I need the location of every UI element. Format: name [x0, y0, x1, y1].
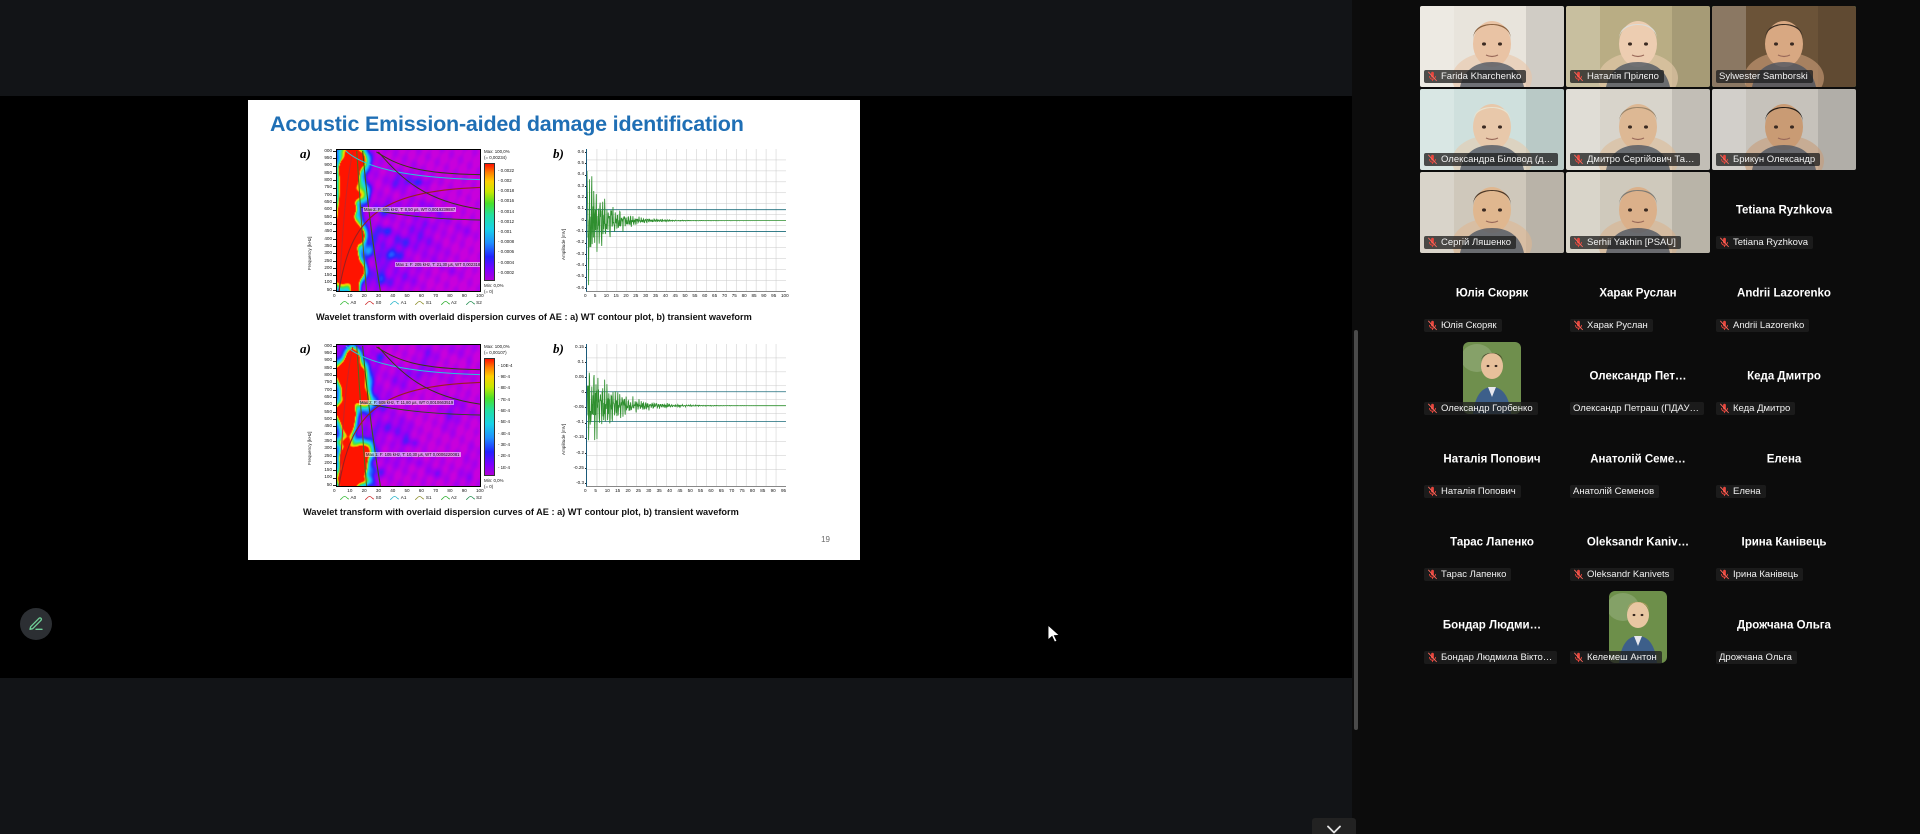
participant-nametag: Сергій Ляшенко: [1424, 236, 1516, 249]
x-tick-label: 0: [584, 294, 587, 299]
x-tick-label: 60: [708, 489, 713, 494]
x-tick-label: 75: [732, 294, 737, 299]
participant-tile[interactable]: Брикун Олександр: [1712, 89, 1856, 170]
mouse-cursor: [1047, 624, 1061, 644]
participants-row: Олександра Біловод (д…Дмитро Сергійович …: [1420, 89, 1870, 170]
participant-display-name: Анатолій Семе…: [1566, 453, 1710, 465]
mic-muted-icon: [1427, 71, 1438, 82]
participant-display-name: Олександр Пет…: [1566, 370, 1710, 382]
participant-display-name: Кеда Дмитро: [1712, 370, 1856, 382]
x-tick-label: 35: [657, 489, 662, 494]
figure-2-mode-legend: A0S0A1S1A2S2: [340, 495, 482, 500]
x-tick-label: 35: [653, 294, 658, 299]
mic-muted-icon: [1719, 320, 1730, 331]
mic-muted-icon: [1719, 569, 1730, 580]
x-tick-label: 20: [623, 294, 628, 299]
participants-row: Бондар Людми…Бондар Людмила Вікто…Келеме…: [1420, 587, 1870, 668]
participant-name-label: Oleksandr Kanivets: [1587, 569, 1669, 580]
participant-nametag: Наталія Прілєпо: [1570, 70, 1664, 83]
participant-tile[interactable]: Тарас ЛапенкоТарас Лапенко: [1420, 504, 1564, 585]
participant-tile[interactable]: Дмитро Сергійович Та…: [1566, 89, 1710, 170]
mode-legend-item: S0: [365, 300, 381, 305]
participant-tile[interactable]: Келемеш Антон: [1566, 587, 1710, 668]
x-tick-label: 15: [614, 294, 619, 299]
participant-tile[interactable]: Дрожчана ОльгаДрожчана Ольга: [1712, 587, 1856, 668]
participant-nametag: Наталія Попович: [1424, 485, 1521, 498]
participant-nametag: Олександр Петраш (ПДАУ…: [1570, 402, 1704, 415]
shared-slide: Acoustic Emission-aided damage identific…: [248, 100, 860, 560]
participant-nametag: Харак Руслан: [1570, 319, 1653, 332]
x-tick-label: 30: [643, 294, 648, 299]
mode-curve-icon: [466, 301, 475, 305]
x-tick-label: 55: [698, 489, 703, 494]
x-tick-label: 0: [584, 489, 587, 494]
participant-nametag: Олександр Горбенко: [1424, 402, 1538, 415]
x-tick-label: 5: [594, 294, 597, 299]
mic-muted-icon: [1719, 403, 1730, 414]
participant-display-name: Andrii Lazorenko: [1712, 287, 1856, 299]
participant-tile[interactable]: Sylwester Samborski: [1712, 6, 1856, 87]
participant-name-label: Farida Kharchenko: [1441, 71, 1521, 82]
participant-nametag: Олександра Біловод (д…: [1424, 153, 1558, 166]
participant-name-label: Serhii Yakhin [PSAU]: [1587, 237, 1676, 248]
participant-name-label: Дмитро Сергійович Та…: [1587, 154, 1695, 165]
figure-1-mode-legend: A0S0A1S1A2S2: [340, 300, 482, 305]
participant-name-label: Кеда Дмитро: [1733, 403, 1790, 414]
mic-muted-icon: [1719, 486, 1730, 497]
mode-curve-icon: [390, 496, 399, 500]
figure-2-caption: Wavelet transform with overlaid dispersi…: [303, 507, 739, 517]
x-tick-label: 10: [604, 294, 609, 299]
figure-1: a) b) Frequency [kHz] 000950900850800750…: [248, 140, 860, 345]
mode-curve-icon: [365, 496, 374, 500]
participant-tile[interactable]: Andrii LazorenkoAndrii Lazorenko: [1712, 255, 1856, 336]
pencil-icon: [28, 616, 44, 632]
mode-legend-item: S2: [466, 300, 482, 305]
mode-curve-icon: [340, 301, 349, 305]
mic-muted-icon: [1427, 320, 1438, 331]
x-tick-label: 100: [781, 294, 789, 299]
participant-name-label: Наталія Прілєпо: [1587, 71, 1659, 82]
participant-nametag: Брикун Олександр: [1716, 153, 1820, 166]
participant-name-label: Келемеш Антон: [1587, 652, 1657, 663]
participant-display-name: Бондар Людми…: [1420, 619, 1564, 631]
x-tick-label: 95: [781, 489, 786, 494]
participant-name-label: Анатолій Семенов: [1573, 486, 1654, 497]
participant-nametag: Келемеш Антон: [1570, 651, 1662, 664]
participant-nametag: Serhii Yakhin [PSAU]: [1570, 236, 1681, 249]
participant-nametag: Tetiana Ryzhkova: [1716, 236, 1813, 249]
participants-row: Сергій ЛяшенкоSerhii Yakhin [PSAU]Tetian…: [1420, 172, 1870, 253]
participant-nametag: Кеда Дмитро: [1716, 402, 1795, 415]
mode-legend-item: A2: [441, 300, 457, 305]
mic-muted-icon: [1427, 652, 1438, 663]
participant-nametag: Тарас Лапенко: [1424, 568, 1511, 581]
participant-name-label: Дрожчана Ольга: [1719, 652, 1792, 663]
mode-legend-label: S2: [476, 300, 482, 305]
mic-muted-icon: [1573, 652, 1584, 663]
participant-tile[interactable]: Бондар Людми…Бондар Людмила Вікто…: [1420, 587, 1564, 668]
mode-curve-icon: [415, 301, 424, 305]
mode-legend-label: A0: [351, 495, 357, 500]
participant-name-label: Тарас Лапенко: [1441, 569, 1506, 580]
participant-name-label: Сергій Ляшенко: [1441, 237, 1511, 248]
mic-muted-icon: [1573, 237, 1584, 248]
mode-legend-item: A0: [340, 300, 356, 305]
x-tick-label: 85: [751, 294, 756, 299]
participant-display-name: Дрожчана Ольга: [1712, 619, 1856, 631]
participant-tile[interactable]: Serhii Yakhin [PSAU]: [1566, 172, 1710, 253]
x-tick-label: 50: [683, 294, 688, 299]
x-tick-label: 65: [712, 294, 717, 299]
participant-nametag: Дрожчана Ольга: [1716, 651, 1797, 664]
x-tick-label: 55: [692, 294, 697, 299]
x-tick-label: 65: [719, 489, 724, 494]
participant-name-label: Олександр Петраш (ПДАУ…: [1573, 403, 1699, 414]
participants-scrollbar[interactable]: [1354, 330, 1358, 730]
x-tick-label: 70: [722, 294, 727, 299]
participant-display-name: Юлія Скоряк: [1420, 287, 1564, 299]
participant-nametag: Sylwester Samborski: [1716, 70, 1813, 83]
x-tick-label: 30: [646, 489, 651, 494]
mode-legend-item: S1: [415, 495, 431, 500]
mode-legend-label: A2: [451, 495, 457, 500]
participant-display-name: Tetiana Ryzhkova: [1712, 204, 1856, 216]
mode-legend-item: S0: [365, 495, 381, 500]
x-tick-label: 45: [677, 489, 682, 494]
participant-nametag: Farida Kharchenko: [1424, 70, 1526, 83]
participants-row: Тарас ЛапенкоТарас ЛапенкоOleksandr Kani…: [1420, 504, 1870, 585]
x-tick-label: 80: [742, 294, 747, 299]
participant-name-label: Олександра Біловод (д…: [1441, 154, 1553, 165]
participant-nametag: Andrii Lazorenko: [1716, 319, 1809, 332]
annotate-button[interactable]: [20, 608, 52, 640]
participants-row: Юлія СкорякЮлія СкорякХарак РусланХарак …: [1420, 255, 1870, 336]
slide-title: Acoustic Emission-aided damage identific…: [270, 112, 744, 137]
mode-curve-icon: [415, 496, 424, 500]
participant-tile[interactable]: Анатолій Семе…Анатолій Семенов: [1566, 421, 1710, 502]
participant-display-name: Oleksandr Kaniv…: [1566, 536, 1710, 548]
participants-row: Наталія ПоповичНаталія ПоповичАнатолій С…: [1420, 421, 1870, 502]
mode-legend-label: S1: [426, 300, 432, 305]
mic-muted-icon: [1573, 320, 1584, 331]
participant-name-label: Ірина Канівець: [1733, 569, 1798, 580]
x-tick-label: 60: [702, 294, 707, 299]
participant-tile[interactable]: Ірина КанівецьІрина Канівець: [1712, 504, 1856, 585]
participant-nametag: Анатолій Семенов: [1570, 485, 1659, 498]
participant-display-name: Тарас Лапенко: [1420, 536, 1564, 548]
mode-legend-item: A1: [390, 300, 406, 305]
participant-nametag: Ірина Канівець: [1716, 568, 1803, 581]
x-tick-label: 25: [636, 489, 641, 494]
mode-legend-label: A1: [401, 300, 407, 305]
participant-nametag: Дмитро Сергійович Та…: [1570, 153, 1700, 166]
x-tick-label: 90: [771, 489, 776, 494]
participant-name-label: Юлія Скоряк: [1441, 320, 1497, 331]
mic-muted-icon: [1427, 154, 1438, 165]
participant-tile[interactable]: Tetiana RyzhkovaTetiana Ryzhkova: [1712, 172, 1856, 253]
participant-name-label: Andrii Lazorenko: [1733, 320, 1804, 331]
mode-legend-label: A0: [351, 300, 357, 305]
participant-tile[interactable]: Сергій Ляшенко: [1420, 172, 1564, 253]
mic-muted-icon: [1427, 569, 1438, 580]
participant-tile[interactable]: Харак РусланХарак Руслан: [1566, 255, 1710, 336]
x-tick-label: 95: [771, 294, 776, 299]
participant-tile[interactable]: Наталія ПоповичНаталія Попович: [1420, 421, 1564, 502]
mic-muted-icon: [1427, 486, 1438, 497]
screen-share-stage: Acoustic Emission-aided damage identific…: [0, 0, 1352, 834]
participants-grid: Farida KharchenkoНаталія ПрілєпоSylweste…: [1420, 6, 1870, 670]
x-tick-label: 75: [740, 489, 745, 494]
x-tick-label: 40: [667, 489, 672, 494]
mode-curve-icon: [365, 301, 374, 305]
mic-muted-icon: [1427, 403, 1438, 414]
mode-legend-label: A2: [451, 300, 457, 305]
mode-curve-icon: [390, 301, 399, 305]
x-tick-label: 85: [760, 489, 765, 494]
participants-row: Farida KharchenkoНаталія ПрілєпоSylweste…: [1420, 6, 1870, 87]
mode-legend-item: S1: [415, 300, 431, 305]
participant-tile[interactable]: Farida Kharchenko: [1420, 6, 1564, 87]
slide-page-number: 19: [821, 535, 830, 544]
x-tick-label: 45: [673, 294, 678, 299]
participant-name-label: Брикун Олександр: [1733, 154, 1815, 165]
participant-nametag: Елена: [1716, 485, 1766, 498]
mode-curve-icon: [466, 496, 475, 500]
participant-name-label: Бондар Людмила Вікто…: [1441, 652, 1552, 663]
x-tick-label: 80: [750, 489, 755, 494]
mode-curve-icon: [441, 301, 450, 305]
mode-curve-icon: [340, 496, 349, 500]
mode-legend-label: S0: [376, 300, 382, 305]
mode-legend-item: A1: [390, 495, 406, 500]
figure-1-waveform-xticks: 0510152025303540455055606570758085909510…: [248, 140, 860, 310]
participant-tile[interactable]: Кеда ДмитроКеда Дмитро: [1712, 338, 1856, 419]
mic-muted-icon: [1573, 154, 1584, 165]
participant-tile[interactable]: Наталія Прілєпо: [1566, 6, 1710, 87]
participant-name-label: Олександр Горбенко: [1441, 403, 1533, 414]
figure-2: a) b) Frequency [kHz] 000950900850800750…: [248, 335, 860, 540]
participant-name-label: Харак Руслан: [1587, 320, 1648, 331]
mic-muted-icon: [1719, 154, 1730, 165]
x-tick-label: 50: [688, 489, 693, 494]
participant-tile[interactable]: Олександра Біловод (д…: [1420, 89, 1564, 170]
x-tick-label: 40: [663, 294, 668, 299]
x-tick-label: 5: [594, 489, 597, 494]
participant-tile[interactable]: Юлія СкорякЮлія Скоряк: [1420, 255, 1564, 336]
mic-muted-icon: [1573, 71, 1584, 82]
mode-legend-label: S1: [426, 495, 432, 500]
mode-curve-icon: [441, 496, 450, 500]
x-tick-label: 10: [605, 489, 610, 494]
participant-nametag: Бондар Людмила Вікто…: [1424, 651, 1557, 664]
participant-tile[interactable]: Oleksandr Kaniv…Oleksandr Kanivets: [1566, 504, 1710, 585]
mode-legend-item: S2: [466, 495, 482, 500]
x-tick-label: 90: [761, 294, 766, 299]
x-tick-label: 15: [615, 489, 620, 494]
participant-nametag: Oleksandr Kanivets: [1570, 568, 1674, 581]
participant-name-label: Tetiana Ryzhkova: [1733, 237, 1808, 248]
mode-legend-label: S2: [476, 495, 482, 500]
participants-row: Олександр ГорбенкоОлександр Пет…Олександ…: [1420, 338, 1870, 419]
participant-tile[interactable]: ЕленаЕлена: [1712, 421, 1856, 502]
mic-muted-icon: [1427, 237, 1438, 248]
participant-display-name: Елена: [1712, 453, 1856, 465]
mode-legend-label: S0: [376, 495, 382, 500]
mode-legend-item: A2: [441, 495, 457, 500]
participant-tile[interactable]: Олександр Горбенко: [1420, 338, 1564, 419]
mic-muted-icon: [1573, 569, 1584, 580]
chevron-down-icon: [1327, 825, 1341, 834]
participant-name-label: Наталія Попович: [1441, 486, 1516, 497]
mode-legend-item: A0: [340, 495, 356, 500]
participant-nametag: Юлія Скоряк: [1424, 319, 1502, 332]
participant-name-label: Елена: [1733, 486, 1761, 497]
x-tick-label: 25: [633, 294, 638, 299]
participant-name-label: Sylwester Samborski: [1719, 71, 1808, 82]
x-tick-label: 20: [625, 489, 630, 494]
show-more-participants-button[interactable]: [1312, 820, 1356, 834]
figure-2-waveform-xticks: 05101520253035404550556065707580859095: [248, 335, 860, 505]
participant-tile[interactable]: Олександр Пет…Олександр Петраш (ПДАУ…: [1566, 338, 1710, 419]
participant-display-name: Харак Руслан: [1566, 287, 1710, 299]
x-tick-label: 70: [729, 489, 734, 494]
mic-muted-icon: [1719, 237, 1730, 248]
participant-display-name: Ірина Канівець: [1712, 536, 1856, 548]
mode-legend-label: A1: [401, 495, 407, 500]
participants-panel: Farida KharchenkoНаталія ПрілєпоSylweste…: [1352, 0, 1920, 834]
figure-1-caption: Wavelet transform with overlaid dispersi…: [316, 312, 752, 322]
participant-display-name: Наталія Попович: [1420, 453, 1564, 465]
